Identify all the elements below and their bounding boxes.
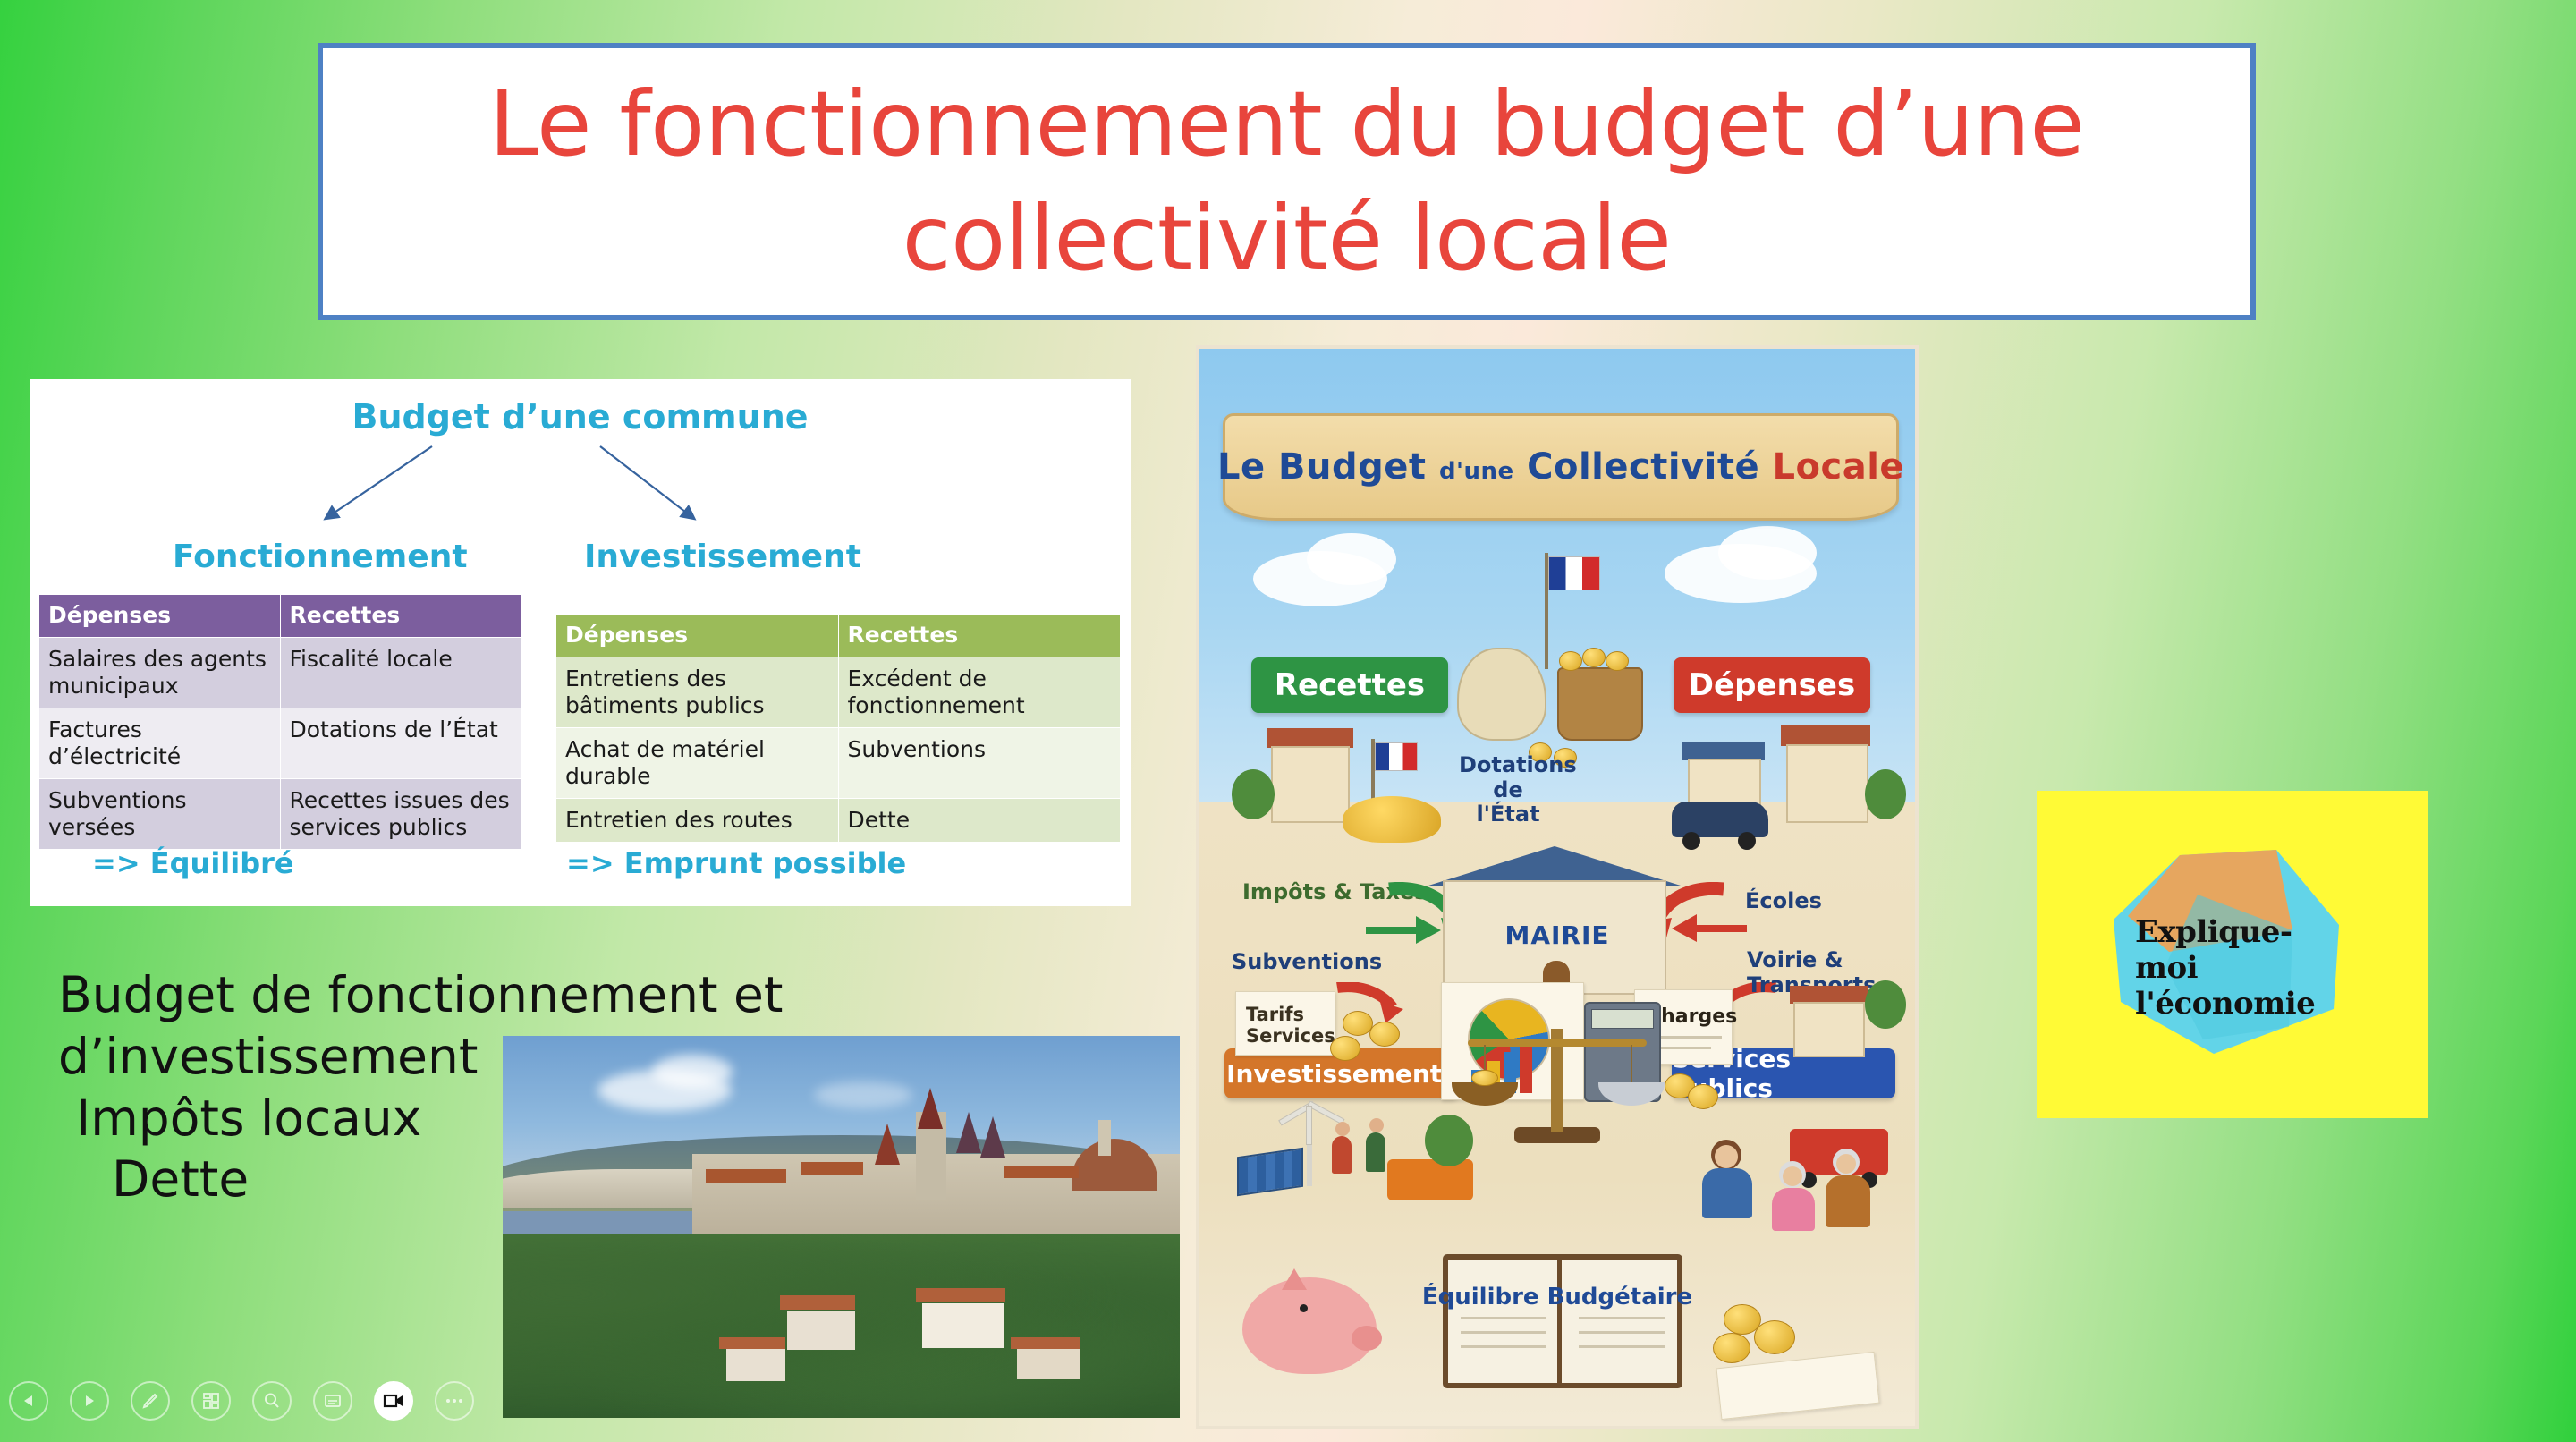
all-slides-button[interactable] xyxy=(191,1381,231,1421)
camera-button[interactable] xyxy=(374,1381,413,1421)
label-ecoles: Écoles xyxy=(1745,889,1822,914)
poster-title-text: Le Budget d'une Collectivité Locale xyxy=(1217,446,1904,488)
table-row: Subventions versées Recettes issues des … xyxy=(39,779,521,850)
worker-head xyxy=(1335,1122,1350,1136)
magnifier-icon xyxy=(262,1391,282,1411)
banner-suffix: Locale xyxy=(1773,446,1905,488)
worker-body xyxy=(1366,1132,1385,1172)
house-shape xyxy=(1271,746,1350,823)
cell-recette: Dette xyxy=(838,799,1121,843)
citizen-head xyxy=(1783,1166,1802,1186)
car-icon xyxy=(1672,802,1768,837)
tree-shape xyxy=(1425,1115,1473,1166)
rooftop xyxy=(801,1162,863,1175)
house-roof xyxy=(916,1288,1005,1302)
presentation-toolbar[interactable] xyxy=(0,1360,555,1442)
table-row: Achat de matériel durable Subventions xyxy=(556,728,1121,799)
label-subventions: Subventions xyxy=(1232,950,1382,975)
rooftop xyxy=(1004,1166,1079,1178)
ribbon-recettes: Recettes xyxy=(1251,657,1448,713)
label-equilibre-budgetaire: Équilibre Budgétaire xyxy=(1199,1285,1915,1311)
construction-truck-icon xyxy=(1387,1159,1473,1200)
coin-icon xyxy=(1343,1011,1373,1036)
book-line xyxy=(1579,1345,1665,1348)
banner-mid: d'une xyxy=(1439,458,1514,485)
cell-depense: Entretien des routes xyxy=(556,799,839,843)
turbine-blade xyxy=(1306,1106,1312,1145)
calculator-screen xyxy=(1591,1009,1654,1029)
car-wheel xyxy=(1682,832,1700,850)
book-spine xyxy=(1557,1254,1562,1388)
tower-spire xyxy=(956,1112,981,1153)
video-camera-icon xyxy=(383,1392,404,1410)
tower-spire xyxy=(875,1124,900,1165)
cell-recette: Fiscalité locale xyxy=(280,638,521,708)
branch-heading-investissement: Investissement xyxy=(584,539,861,575)
cell-depense: Subventions versées xyxy=(39,779,281,850)
subtitles-icon xyxy=(323,1391,343,1411)
tree-shape xyxy=(1865,980,1906,1029)
next-slide-button[interactable] xyxy=(70,1381,109,1421)
table-row: Salaires des agents municipaux Fiscalité… xyxy=(39,638,521,708)
triangle-right-icon xyxy=(81,1393,97,1409)
presentation-slide: Le fonctionnement du budget d’une collec… xyxy=(0,0,2576,1442)
coin-icon xyxy=(1582,648,1606,667)
coin-icon xyxy=(1369,1022,1400,1047)
subtitles-button[interactable] xyxy=(313,1381,352,1421)
grid-icon xyxy=(201,1391,221,1411)
cloud-shape xyxy=(1718,526,1817,580)
coin-icon xyxy=(1606,651,1629,671)
house-roof xyxy=(719,1337,785,1349)
piggy-snout xyxy=(1352,1326,1382,1351)
label-tarifs-services: Tarifs Services xyxy=(1246,1004,1326,1047)
poster-title-banner: Le Budget d'une Collectivité Locale xyxy=(1223,413,1899,521)
book-line xyxy=(1579,1331,1665,1334)
house-roof xyxy=(1790,986,1868,1004)
table-investissement: Dépenses Recettes Entretiens des bâtimen… xyxy=(555,614,1121,843)
school-shape xyxy=(1786,744,1868,823)
conclusion-fonctionnement: => Équilibré xyxy=(92,846,294,880)
school-roof xyxy=(1781,725,1870,746)
logo-text: Explique-moi l'économie xyxy=(2135,914,2341,1022)
table-header-row: Dépenses Recettes xyxy=(556,615,1121,657)
column-header-depenses: Dépenses xyxy=(556,615,839,657)
title-box: Le fonctionnement du budget d’une collec… xyxy=(318,43,2256,320)
house-roof xyxy=(780,1295,855,1310)
budget-infographic-poster: Le Budget d'une Collectivité Locale Dota… xyxy=(1196,345,1919,1429)
cell-recette: Recettes issues des services publics xyxy=(280,779,521,850)
house-shape xyxy=(1793,1002,1865,1057)
explique-moi-logo-box: Explique-moi l'économie xyxy=(2037,791,2428,1118)
ellipsis-icon xyxy=(445,1398,463,1404)
page-title: Le fonctionnement du budget d’une collec… xyxy=(323,67,2250,296)
book-line xyxy=(1461,1331,1546,1334)
cell-recette: Excédent de fonctionnement xyxy=(838,657,1121,728)
zoom-tool-button[interactable] xyxy=(252,1381,292,1421)
agent-body xyxy=(1702,1168,1752,1218)
conclusion-investissement: => Emprunt possible xyxy=(566,846,906,880)
citizen-body xyxy=(1772,1188,1815,1231)
coin-icon xyxy=(1471,1070,1498,1086)
french-flag-icon xyxy=(1375,742,1418,771)
french-flag-icon xyxy=(1548,556,1600,590)
column-header-depenses: Dépenses xyxy=(39,595,281,638)
car-wheel xyxy=(1738,832,1756,850)
budget-book-icon xyxy=(1443,1254,1682,1388)
village-photograph xyxy=(503,1036,1180,1418)
money-bag-icon xyxy=(1457,648,1546,741)
coin-icon xyxy=(1330,1036,1360,1061)
table-row: Entretiens des bâtiments publics Excéden… xyxy=(556,657,1121,728)
coin-pile-icon xyxy=(1343,796,1441,843)
cell-depense: Salaires des agents municipaux xyxy=(39,638,281,708)
more-options-button[interactable] xyxy=(435,1381,474,1421)
banner-prefix: Le Budget xyxy=(1217,446,1427,488)
budget-diagram-card: Budget d’une commune Fonctionnement Inve… xyxy=(30,379,1131,906)
coin-icon xyxy=(1713,1333,1750,1363)
bell-tower xyxy=(1098,1120,1111,1156)
coin-icon xyxy=(1559,651,1582,671)
house-shape xyxy=(922,1303,1004,1348)
house-shape xyxy=(787,1311,855,1350)
table-row: Entretien des routes Dette xyxy=(556,799,1121,843)
pen-icon xyxy=(140,1391,160,1411)
cloud-shape xyxy=(1307,533,1396,585)
rooftop xyxy=(706,1169,786,1183)
cell-depense: Achat de matériel durable xyxy=(556,728,839,799)
money-pot-icon xyxy=(1557,667,1643,741)
tower-spire xyxy=(918,1088,943,1129)
label-mairie: MAIRIE xyxy=(1199,921,1915,950)
table-row: Factures d’électricité Dotations de l’Ét… xyxy=(39,708,521,779)
balance-scale-beam xyxy=(1468,1039,1647,1047)
logo-line-2: l'économie xyxy=(2135,986,2341,1022)
house-shape xyxy=(726,1349,785,1381)
citizen-body xyxy=(1826,1175,1870,1227)
cell-recette: Subventions xyxy=(838,728,1121,799)
column-header-recettes: Recettes xyxy=(838,615,1121,657)
branch-heading-fonctionnement: Fonctionnement xyxy=(173,539,468,575)
worker-head xyxy=(1369,1118,1384,1132)
tree-shape xyxy=(1232,769,1275,819)
triangle-left-icon xyxy=(21,1393,37,1409)
house-roof xyxy=(1267,728,1353,748)
banner-main: Collectivité xyxy=(1527,446,1759,488)
bar-chart-bar xyxy=(1520,1043,1532,1093)
previous-slide-button[interactable] xyxy=(9,1381,48,1421)
cell-depense: Entretiens des bâtiments publics xyxy=(556,657,839,728)
book-line xyxy=(1461,1317,1546,1319)
table-fonctionnement: Dépenses Recettes Salaires des agents mu… xyxy=(38,594,521,850)
label-dotations-etat: Dotations de l'État xyxy=(1459,753,1557,827)
cell-recette: Dotations de l’État xyxy=(280,708,521,779)
column-header-recettes: Recettes xyxy=(280,595,521,638)
coin-icon xyxy=(1688,1084,1718,1109)
tower-spire xyxy=(980,1116,1005,1158)
table-header-row: Dépenses Recettes xyxy=(39,595,521,638)
ribbon-depenses: Dépenses xyxy=(1674,657,1870,713)
house-roof xyxy=(1011,1337,1080,1349)
pen-tool-button[interactable] xyxy=(131,1381,170,1421)
house-shape xyxy=(1017,1349,1080,1379)
cell-depense: Factures d’électricité xyxy=(39,708,281,779)
book-line xyxy=(1461,1345,1546,1348)
house-roof xyxy=(1682,742,1765,760)
citizen-head xyxy=(1836,1154,1856,1174)
book-line xyxy=(1579,1317,1665,1319)
scale-wire xyxy=(1631,1045,1632,1084)
logo-line-1: Explique-moi xyxy=(2135,914,2341,986)
agent-head xyxy=(1715,1145,1738,1168)
worker-body xyxy=(1332,1136,1352,1174)
cloud-shape xyxy=(652,1055,733,1089)
coin-icon xyxy=(1754,1320,1795,1354)
tree-shape xyxy=(1865,769,1906,819)
